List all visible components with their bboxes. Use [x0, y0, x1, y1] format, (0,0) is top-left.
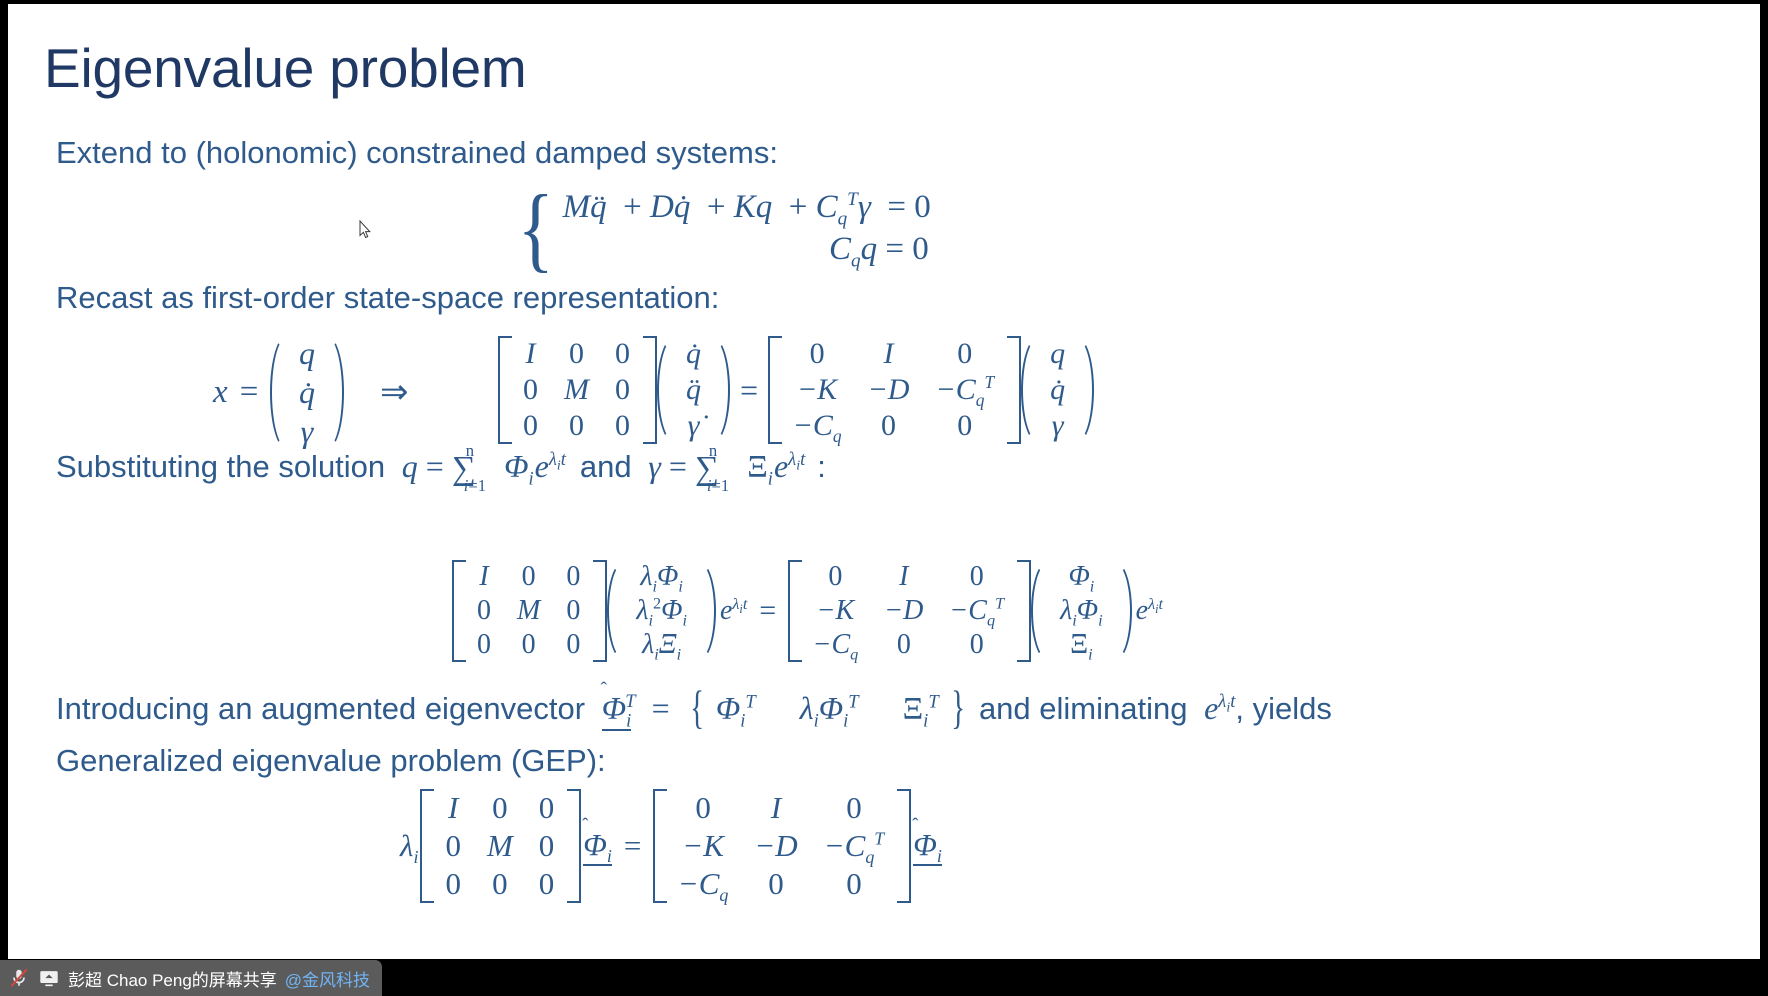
modal-lhs-vector: λiΦi λi2Φi λiΞi: [607, 560, 716, 662]
paren-left-icon: [270, 334, 286, 451]
matrix-cell: 0: [504, 560, 553, 594]
bracket-right-icon: [1017, 560, 1029, 662]
system-row-1: Mq̈ + Dq̇ + Kq + CqTγ = 0: [563, 186, 931, 228]
paren-right-icon: [714, 336, 730, 444]
inline-exponential-term: eλit: [1196, 690, 1235, 726]
matrix-cell: 0: [741, 865, 810, 903]
equation-state-vector: x = q q̇ γ: [213, 334, 344, 451]
matrix-cell: 0: [551, 408, 602, 444]
inline-q-sum: q = ∑ n i=1 Φieλit: [394, 448, 574, 484]
matrix-cell: 0: [871, 628, 936, 662]
matrix-cell: 0: [432, 827, 474, 865]
paren-right-icon: [1116, 560, 1132, 662]
mouse-pointer-icon: [359, 220, 371, 239]
line-introducing: Introducing an augmented eigenvector ̂Φi…: [56, 690, 1332, 731]
page-title: Eigenvalue problem: [44, 40, 527, 98]
state-vector-lhs: x: [213, 374, 228, 411]
matrix-cell: 0: [551, 336, 602, 372]
system-row-2: Cqq = 0: [563, 228, 931, 270]
matrix-cell: 0: [800, 560, 872, 594]
modal-equals: =: [757, 594, 777, 628]
matrix-cell: 0: [936, 560, 1017, 594]
state-space-rhs-matrix: 0I0 −K−D−CqT −Cq00: [768, 336, 1020, 444]
share-status-text: 彭超 Chao Peng的屏幕共享: [68, 966, 277, 991]
share-handle-text: @金风科技: [285, 966, 370, 991]
equation-state-space: I00 0M0 000 q̇ q̈ γ̇ = 0I0: [498, 336, 1094, 444]
modal-lhs-exponential: eλit: [720, 595, 747, 627]
introducing-prefix: Introducing an augmented eigenvector: [56, 691, 585, 726]
matrix-cell: 0: [602, 408, 643, 444]
gep-rhs-eigenvector: ̂Φi: [913, 827, 942, 866]
matrix-cell: −Cq: [800, 628, 872, 662]
matrix-cell: 0: [504, 628, 553, 662]
bracket-left-icon: [768, 336, 780, 444]
paren-right-icon: [1078, 336, 1094, 444]
matrix-cell: 0: [474, 865, 526, 903]
equation-modal-substitution: I00 0M0 000 λiΦi λi2Φi λiΞi eλit =: [452, 560, 1163, 662]
matrix-cell: 0: [811, 865, 898, 903]
state-space-rhs-vector: q q̇ γ: [1021, 336, 1094, 444]
matrix-cell: −K: [800, 594, 872, 628]
matrix-cell: 0: [526, 789, 568, 827]
matrix-cell: 0: [780, 336, 855, 372]
matrix-cell: 0: [553, 628, 593, 662]
bracket-right-icon: [593, 560, 605, 662]
introducing-suffix: , yields: [1235, 691, 1331, 726]
bracket-left-icon: [420, 789, 432, 903]
matrix-cell: 0: [464, 594, 504, 628]
matrix-cell: 0: [432, 865, 474, 903]
matrix-cell: −K: [780, 372, 855, 408]
matrix-cell: 0: [526, 827, 568, 865]
matrix-cell: I: [741, 789, 810, 827]
screen-share-icon[interactable]: [38, 967, 60, 989]
matrix-cell: −CqT: [922, 372, 1007, 408]
gep-lhs-eigenvector: ̂Φi: [583, 827, 612, 866]
matrix-cell: −D: [871, 594, 936, 628]
matrix-cell: 0: [553, 594, 593, 628]
bracket-right-icon: [567, 789, 579, 903]
matrix-cell: 0: [811, 789, 898, 827]
inline-augmented-eigenvector: ̂ΦiT = { ΦiT λiΦiT ΞiT }: [594, 690, 977, 726]
matrix-cell: −Cq: [780, 408, 855, 444]
screen-share-status-bar[interactable]: 彭超 Chao Peng的屏幕共享 @金风科技: [0, 960, 382, 996]
matrix-cell: −Cq: [665, 865, 742, 903]
matrix-cell: I: [464, 560, 504, 594]
line-gep-label: Generalized eigenvalue problem (GEP):: [56, 743, 606, 780]
matrix-cell: −K: [665, 827, 742, 865]
matrix-cell: I: [855, 336, 923, 372]
matrix-cell: M: [474, 827, 526, 865]
paren-left-icon: [1031, 560, 1047, 662]
modal-rhs-matrix: 0I0 −K−D−CqT −Cq00: [788, 560, 1030, 662]
matrix-cell: I: [432, 789, 474, 827]
paren-left-icon: [607, 560, 623, 662]
introducing-mid: and eliminating: [979, 691, 1188, 726]
matrix-cell: 0: [510, 372, 551, 408]
line-recast: Recast as first-order state-space repres…: [56, 280, 719, 317]
bracket-left-icon: [498, 336, 510, 444]
gep-lambda: λi: [400, 828, 418, 864]
matrix-cell: −CqT: [936, 594, 1017, 628]
substituting-and: and: [580, 449, 632, 484]
modal-rhs-exponential: eλit: [1136, 595, 1163, 627]
gep-rhs-matrix: 0I0 −K−D−CqT −Cq00: [653, 789, 910, 903]
bracket-left-icon: [788, 560, 800, 662]
matrix-cell: 0: [526, 865, 568, 903]
matrix-cell: −CqT: [811, 827, 898, 865]
inline-gamma-sum: γ = ∑ n i=1 Ξieλit: [640, 448, 813, 484]
matrix-cell: 0: [855, 408, 923, 444]
substituting-colon: :: [817, 449, 826, 484]
presentation-slide: Eigenvalue problem Extend to (holonomic)…: [8, 4, 1760, 959]
matrix-cell: I: [871, 560, 936, 594]
microphone-muted-icon[interactable]: [8, 967, 30, 989]
bracket-right-icon: [643, 336, 655, 444]
matrix-cell: 0: [936, 628, 1017, 662]
state-vector-equals: =: [238, 374, 260, 411]
state-space-lhs-vector: q̇ q̈ γ̇: [657, 336, 730, 444]
bracket-right-icon: [897, 789, 909, 903]
paren-left-icon: [657, 336, 673, 444]
matrix-cell: −D: [741, 827, 810, 865]
state-space-equals: =: [738, 372, 760, 409]
modal-lhs-matrix: I00 0M0 000: [452, 560, 605, 662]
matrix-cell: M: [504, 594, 553, 628]
matrix-cell: 0: [510, 408, 551, 444]
state-vector-matrix: q q̇ γ: [270, 334, 344, 451]
matrix-cell: 0: [464, 628, 504, 662]
screen-share-frame: Eigenvalue problem Extend to (holonomic)…: [0, 0, 1768, 996]
matrix-cell: 0: [602, 372, 643, 408]
matrix-cell: 0: [665, 789, 742, 827]
modal-rhs-vector: Φi λiΦi Ξi: [1031, 560, 1132, 662]
line-substituting: Substituting the solution q = ∑ n i=1 Φi…: [56, 448, 826, 489]
matrix-cell: 0: [922, 408, 1007, 444]
bracket-left-icon: [452, 560, 464, 662]
matrix-cell: M: [551, 372, 602, 408]
paren-right-icon: [700, 560, 716, 662]
gep-equals: =: [622, 828, 643, 864]
implies-arrow-icon: ⇒: [380, 372, 409, 412]
matrix-cell: 0: [474, 789, 526, 827]
state-space-lhs-matrix: I00 0M0 000: [498, 336, 655, 444]
matrix-cell: 0: [553, 560, 593, 594]
matrix-cell: 0: [922, 336, 1007, 372]
matrix-cell: I: [510, 336, 551, 372]
system-brace: {: [518, 194, 554, 262]
equation-gep: λi I00 0M0 000 ̂Φi = 0I0 −K−D−Cq: [400, 789, 942, 903]
matrix-cell: −D: [855, 372, 923, 408]
equation-constrained-system: { Mq̈ + Dq̇ + Kq + CqTγ = 0 Cqq = 0: [513, 186, 931, 270]
bracket-right-icon: [1007, 336, 1019, 444]
bracket-left-icon: [653, 789, 665, 903]
paren-right-icon: [328, 334, 344, 451]
line-extend: Extend to (holonomic) constrained damped…: [56, 135, 778, 172]
paren-left-icon: [1021, 336, 1037, 444]
gep-lhs-matrix: I00 0M0 000: [420, 789, 579, 903]
matrix-cell: 0: [602, 336, 643, 372]
substituting-prefix: Substituting the solution: [56, 449, 385, 484]
